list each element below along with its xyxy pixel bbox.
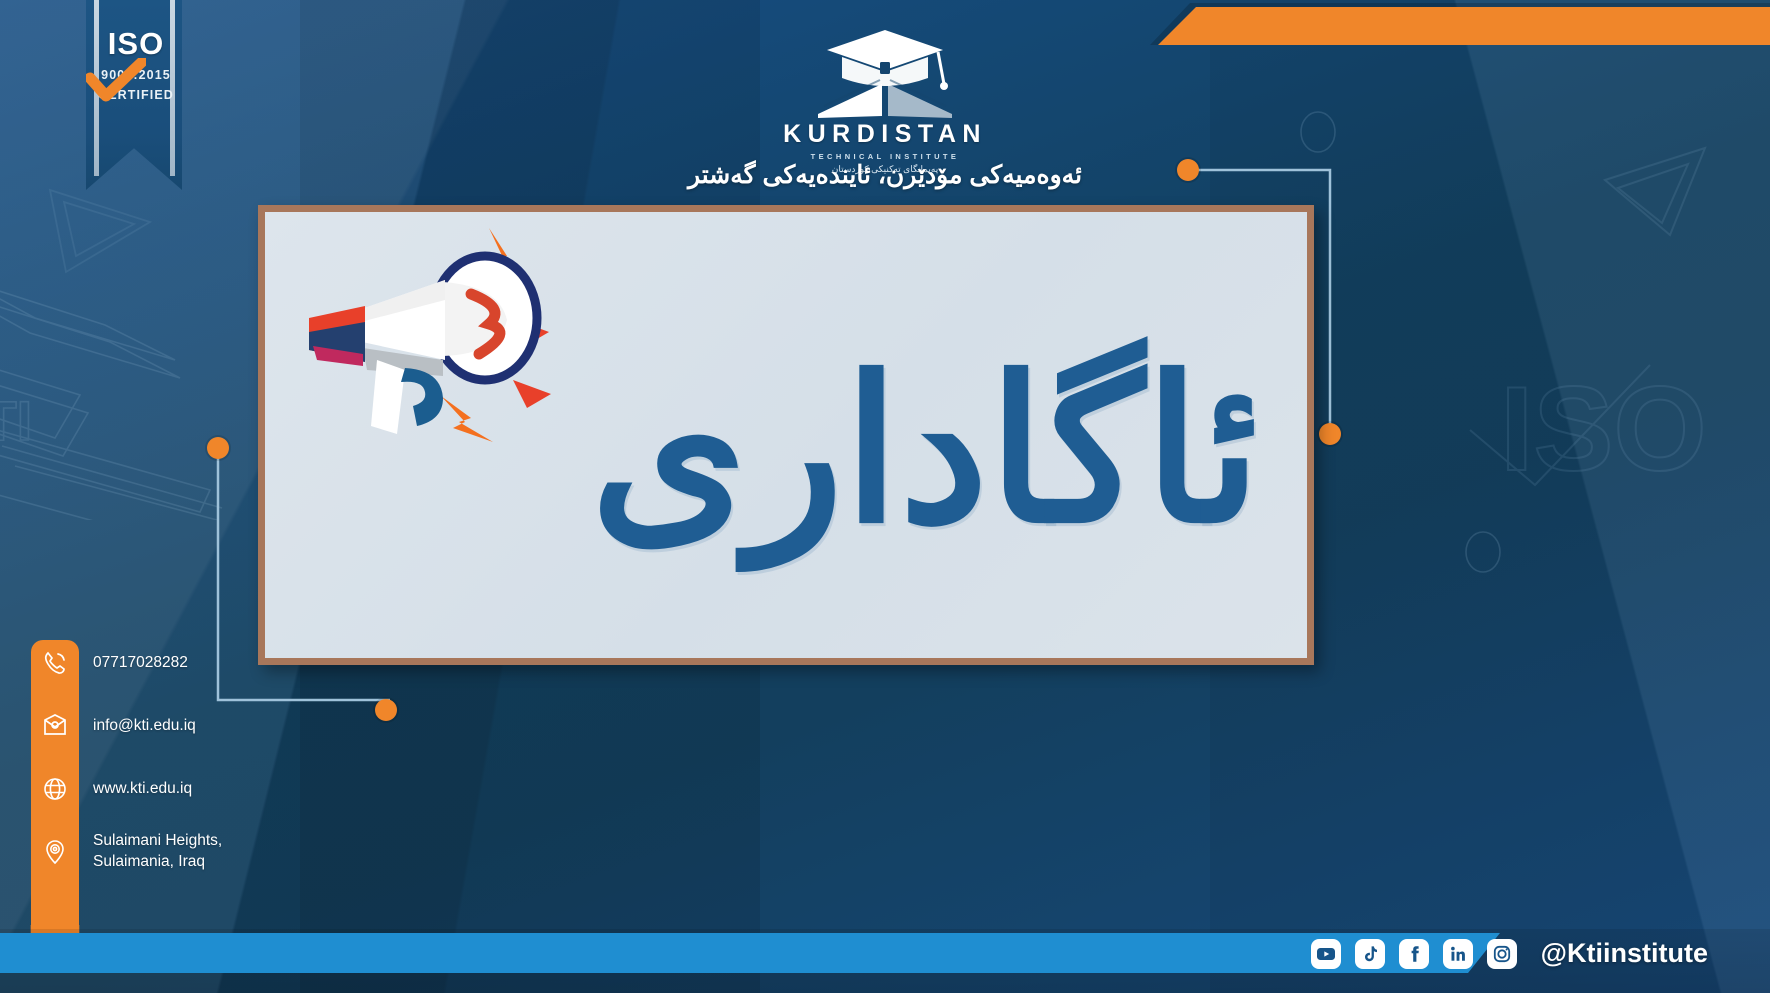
phone-icon (31, 641, 79, 685)
email-icon (31, 704, 79, 748)
contact-address-text: Sulaimani Heights, Sulaimania, Iraq (93, 831, 222, 873)
location-icon (31, 830, 79, 874)
contact-phone-text: 07717028282 (93, 653, 188, 674)
logo-wordmark: KURDISTAN (783, 120, 987, 149)
contact-email-text: info@kti.edu.iq (93, 716, 196, 737)
triangle-outline-watermark (30, 180, 180, 320)
iso-outline-watermark: ISO (1350, 140, 1770, 620)
card-headline: ئاگاداری (590, 352, 1261, 552)
tiktok-icon[interactable] (1355, 939, 1385, 969)
institute-logo: KURDISTAN TECHNICAL INSTITUTE پەیمانگای … (0, 26, 1770, 175)
accent-dot-top-right (1177, 159, 1199, 181)
contact-list: 07717028282 info@kti.edu.iq www.kti. (31, 640, 361, 892)
footer-accent-strip (0, 933, 1500, 973)
poster-canvas: KTI ISO ISO 9001:2015 CERTIFIED (0, 0, 1770, 993)
graduation-book-logo-icon (810, 26, 960, 118)
contact-item-website[interactable]: www.kti.edu.iq (31, 766, 361, 812)
instagram-icon[interactable] (1487, 939, 1517, 969)
accent-dot-left (207, 437, 229, 459)
accent-dot-right (1319, 423, 1341, 445)
contact-item-address[interactable]: Sulaimani Heights, Sulaimania, Iraq (31, 829, 361, 875)
contact-website-text: www.kti.edu.iq (93, 779, 192, 800)
tagline: ئەوەمیەکی مۆدێرن، ئایندەیەکی گەشتر (0, 160, 1770, 190)
svg-text:KTI: KTI (0, 389, 32, 452)
linkedin-icon[interactable] (1443, 939, 1473, 969)
facebook-icon[interactable] (1399, 939, 1429, 969)
youtube-icon[interactable] (1311, 939, 1341, 969)
contact-item-phone[interactable]: 07717028282 (31, 640, 361, 686)
svg-text:ISO: ISO (1500, 362, 1707, 496)
social-links: @Ktiinstitute (1311, 938, 1708, 969)
social-handle: @Ktiinstitute (1541, 938, 1708, 969)
circle-outline-watermark-2 (1461, 530, 1505, 574)
accent-dot-left-end (375, 699, 397, 721)
contact-item-email[interactable]: info@kti.edu.iq (31, 703, 361, 749)
book-outline-watermark: KTI (0, 190, 290, 520)
globe-icon (31, 767, 79, 811)
announcement-card: ئاگاداری (258, 205, 1314, 665)
megaphone-icon (293, 220, 593, 470)
